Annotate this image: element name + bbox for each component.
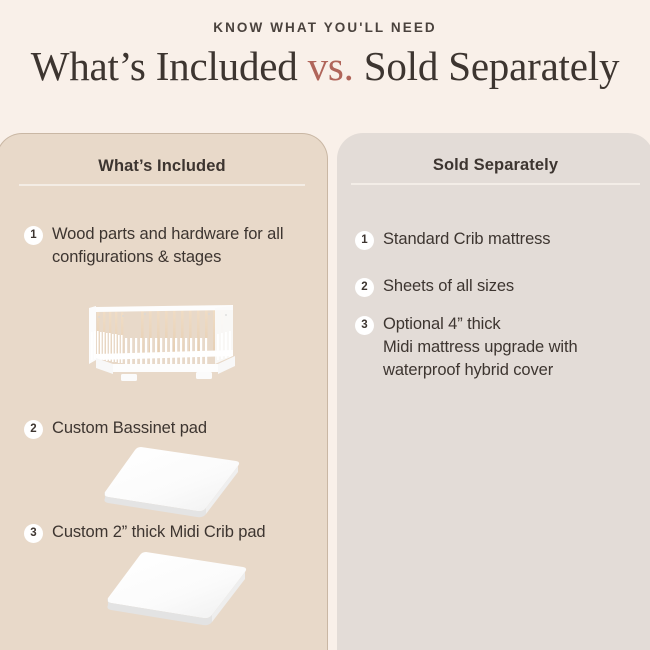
comparison-infographic: KNOW WHAT YOU'LL NEED What’s Included vs…: [0, 0, 650, 650]
bassinet-pad-illustration: [97, 443, 247, 521]
midi-crib-pad-illustration: [100, 548, 255, 630]
list-item: 1 Standard Crib mattress: [355, 228, 645, 251]
header: KNOW WHAT YOU'LL NEED What’s Included vs…: [0, 0, 650, 133]
panel-title-sold-separately: Sold Separately: [337, 156, 650, 175]
page-title: What’s Included vs. Sold Separately: [0, 42, 650, 90]
title-part-separately: Sold Separately: [354, 43, 620, 89]
item-number-badge: 2: [355, 278, 374, 297]
list-item: 2 Custom Bassinet pad: [24, 417, 324, 440]
item-number-badge: 3: [24, 524, 43, 543]
item-number-badge: 1: [355, 231, 374, 250]
panel-divider: [351, 183, 640, 185]
convertible-crib-illustration: [83, 298, 248, 390]
list-item: 3 Optional 4” thick Midi mattress upgrad…: [355, 313, 645, 382]
title-vs-accent: vs.: [308, 43, 354, 89]
item-label: Standard Crib mattress: [383, 228, 550, 251]
list-item: 1 Wood parts and hardware for all config…: [24, 223, 324, 269]
item-label: Sheets of all sizes: [383, 275, 514, 298]
item-number-badge: 1: [24, 226, 43, 245]
item-number-badge: 3: [355, 316, 374, 335]
panel-divider: [19, 184, 305, 186]
title-part-included: What’s Included: [31, 43, 308, 89]
item-number-badge: 2: [24, 420, 43, 439]
panel-title-included: What’s Included: [0, 157, 327, 176]
item-label: Optional 4” thick Midi mattress upgrade …: [383, 313, 578, 382]
eyebrow-text: KNOW WHAT YOU'LL NEED: [0, 20, 650, 35]
list-item: 3 Custom 2” thick Midi Crib pad: [24, 521, 334, 544]
list-item: 2 Sheets of all sizes: [355, 275, 645, 298]
item-label: Custom 2” thick Midi Crib pad: [52, 521, 266, 544]
item-label: Wood parts and hardware for all configur…: [52, 223, 324, 269]
item-label: Custom Bassinet pad: [52, 417, 207, 440]
panel-sold-separately: Sold Separately: [337, 133, 650, 650]
